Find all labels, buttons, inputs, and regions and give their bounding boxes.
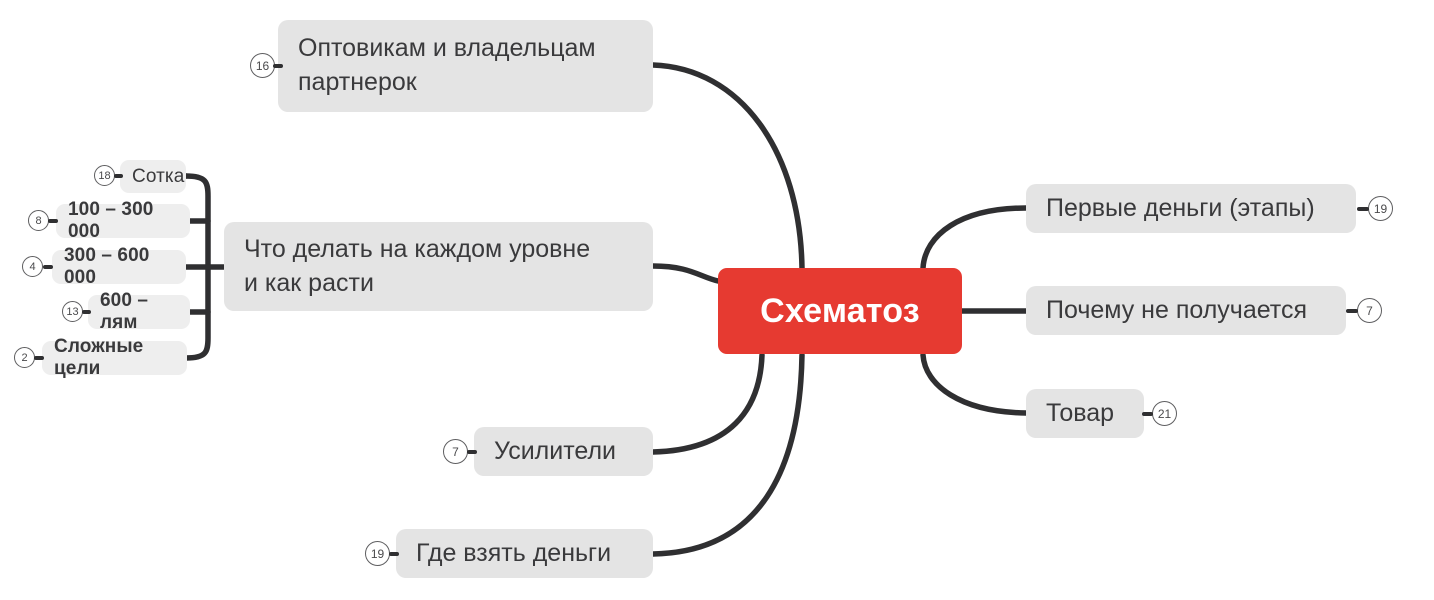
- node-gde-vzyat-dengi[interactable]: Где взять деньги: [396, 529, 653, 578]
- bracket-spine: [186, 176, 208, 358]
- link-central-chto: [653, 266, 718, 281]
- subnode-300-600[interactable]: 300 – 600 000: [52, 250, 186, 284]
- node-pervye-dengi-label: Первые деньги (этапы): [1046, 192, 1315, 226]
- badge-300-600[interactable]: 4: [22, 256, 43, 277]
- link-central-usiliteli: [653, 355, 762, 452]
- badge-tovar[interactable]: 21: [1152, 401, 1177, 426]
- mindmap-canvas: Схематоз Оптовикам и владельцам партнеро…: [0, 0, 1434, 600]
- node-tovar-label: Товар: [1046, 397, 1114, 431]
- node-optovikam-label: Оптовикам и владельцам партнерок: [298, 32, 596, 100]
- subnode-100-300[interactable]: 100 – 300 000: [56, 204, 190, 238]
- node-usiliteli[interactable]: Усилители: [474, 427, 653, 476]
- badge-stub-100-300: [48, 219, 58, 223]
- badge-100-300[interactable]: 8: [28, 210, 49, 231]
- subnode-600-lyam-label: 600 – лям: [100, 290, 178, 334]
- badge-sotka-value: 18: [98, 170, 110, 182]
- node-usiliteli-label: Усилители: [494, 435, 616, 469]
- node-pochemu-ne-poluchaetsya-label: Почему не получается: [1046, 294, 1307, 328]
- subnode-sotka[interactable]: Сотка: [120, 160, 186, 193]
- subnode-sotka-label: Сотка: [132, 166, 184, 188]
- badge-stub-pervye-dengi: [1357, 207, 1369, 211]
- badge-pervye-dengi[interactable]: 19: [1368, 196, 1393, 221]
- badge-stub-pochemu: [1346, 309, 1358, 313]
- node-optovikam[interactable]: Оптовикам и владельцам партнерок: [278, 20, 653, 112]
- badge-optovikam[interactable]: 16: [250, 53, 275, 78]
- link-central-pervye: [923, 208, 1026, 268]
- badge-600-lyam-value: 13: [66, 306, 78, 318]
- badge-slozhnye-celi-value: 2: [21, 352, 27, 364]
- subnode-slozhnye-celi-label: Сложные цели: [54, 336, 175, 380]
- badge-tovar-value: 21: [1158, 407, 1171, 421]
- badge-usiliteli[interactable]: 7: [443, 439, 468, 464]
- badge-usiliteli-value: 7: [452, 445, 459, 459]
- link-central-tovar: [923, 355, 1026, 413]
- node-pervye-dengi[interactable]: Первые деньги (этапы): [1026, 184, 1356, 233]
- badge-pochemu-ne-poluchaetsya[interactable]: 7: [1357, 298, 1382, 323]
- badge-stub-optovikam: [273, 64, 283, 68]
- badge-stub-sotka: [114, 174, 123, 178]
- node-tovar[interactable]: Товар: [1026, 389, 1144, 438]
- badge-gde-vzyat-dengi[interactable]: 19: [365, 541, 390, 566]
- subnode-600-lyam[interactable]: 600 – лям: [88, 295, 190, 329]
- badge-gde-vzyat-dengi-value: 19: [371, 547, 384, 561]
- link-central-optovikam: [653, 65, 802, 268]
- node-pochemu-ne-poluchaetsya[interactable]: Почему не получается: [1026, 286, 1346, 335]
- badge-sotka[interactable]: 18: [94, 165, 115, 186]
- badge-optovikam-value: 16: [256, 59, 269, 73]
- badge-pervye-dengi-value: 19: [1374, 202, 1387, 216]
- badge-stub-slozhnye-celi: [34, 356, 44, 360]
- badge-stub-600-lyam: [82, 310, 91, 314]
- subnode-300-600-label: 300 – 600 000: [64, 245, 174, 289]
- badge-300-600-value: 4: [29, 261, 35, 273]
- badge-100-300-value: 8: [35, 215, 41, 227]
- subnode-slozhnye-celi[interactable]: Сложные цели: [42, 341, 187, 375]
- badge-slozhnye-celi[interactable]: 2: [14, 347, 35, 368]
- subnode-100-300-label: 100 – 300 000: [68, 199, 178, 243]
- link-central-dengi: [653, 355, 802, 554]
- central-node-label: Схематоз: [760, 292, 920, 331]
- badge-stub-usiliteli: [467, 450, 477, 454]
- central-node[interactable]: Схематоз: [718, 268, 962, 354]
- node-chto-delat-label: Что делать на каждом уровне и как расти: [244, 233, 590, 301]
- node-gde-vzyat-dengi-label: Где взять деньги: [416, 537, 611, 571]
- badge-stub-tovar: [1142, 412, 1153, 416]
- badge-stub-300-600: [43, 265, 53, 269]
- badge-stub-gde-vzyat-dengi: [389, 552, 399, 556]
- badge-pochemu-ne-poluchaetsya-value: 7: [1366, 304, 1373, 318]
- badge-600-lyam[interactable]: 13: [62, 301, 83, 322]
- node-chto-delat[interactable]: Что делать на каждом уровне и как расти: [224, 222, 653, 311]
